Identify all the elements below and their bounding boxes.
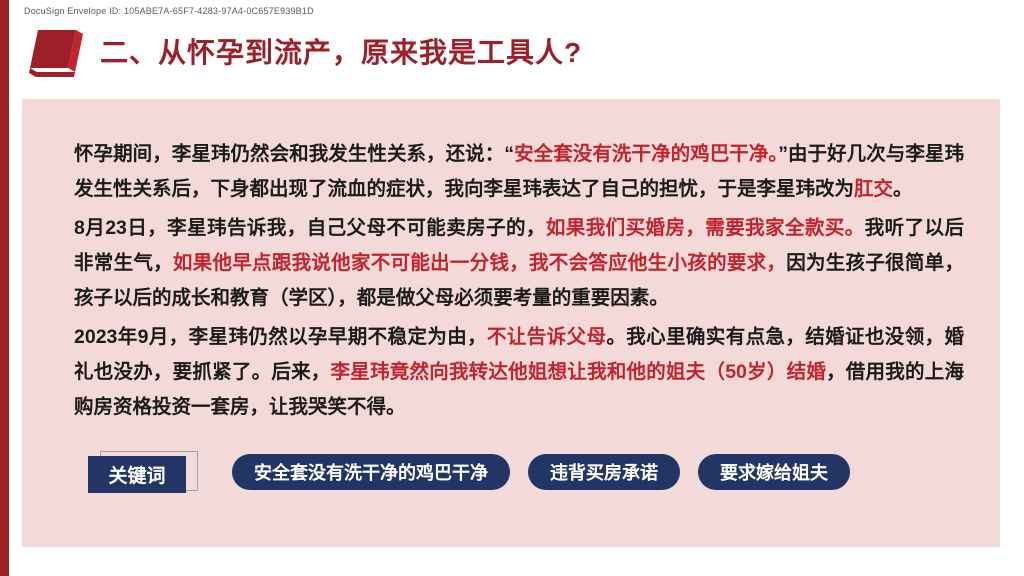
plain-text: 怀孕期间，李星玮仍然会和我发生性关系，还说：“ <box>74 143 514 165</box>
highlighted-text: 肛交 <box>854 178 893 200</box>
highlighted-text: 如果我们买婚房，需要我家全款买。 <box>546 217 865 239</box>
keyword-label: 关键词 <box>88 456 186 493</box>
highlighted-text: 如果他早点跟我说他家不可能出一分钱，我不会答应他生小孩的要求， <box>173 252 786 274</box>
book-icon <box>28 28 90 80</box>
plain-text: 8月23日，李星玮告诉我，自己父母不可能卖房子的， <box>74 217 546 239</box>
highlighted-text: 李星玮竟然向我转达他姐想让我和他的姐夫（50岁）结婚 <box>331 361 827 383</box>
paragraph: 8月23日，李星玮告诉我，自己父母不可能卖房子的，如果我们买婚房，需要我家全款买… <box>74 211 964 316</box>
plain-text: 。 <box>893 178 913 200</box>
docusign-envelope-id: DocuSign Envelope ID: 105ABE7A-65F7-4283… <box>24 6 314 16</box>
highlighted-text: 安全套没有洗干净的鸡巴干净。 <box>514 143 778 165</box>
keyword-tag-row: 关键词 安全套没有洗干净的鸡巴干净 违背买房承诺 要求嫁给姐夫 <box>88 451 850 493</box>
page-title: 二、从怀孕到流产，原来我是工具人? <box>100 31 582 71</box>
keyword-pill[interactable]: 违背买房承诺 <box>528 454 680 490</box>
left-accent-bar <box>0 0 9 576</box>
slide: DocuSign Envelope ID: 105ABE7A-65F7-4283… <box>0 0 1024 576</box>
content-panel: 怀孕期间，李星玮仍然会和我发生性关系，还说：“安全套没有洗干净的鸡巴干净。”由于… <box>22 99 1000 547</box>
keyword-label-group: 关键词 <box>88 451 200 493</box>
paragraph: 2023年9月，李星玮仍然以孕早期不稳定为由，不让告诉父母。我心里确实有点急，结… <box>74 320 964 425</box>
plain-text: 2023年9月，李星玮仍然以孕早期不稳定为由， <box>74 326 487 348</box>
body-text: 怀孕期间，李星玮仍然会和我发生性关系，还说：“安全套没有洗干净的鸡巴干净。”由于… <box>74 137 964 429</box>
highlighted-text: 不让告诉父母 <box>487 326 606 348</box>
keyword-pill[interactable]: 要求嫁给姐夫 <box>698 454 850 490</box>
paragraph: 怀孕期间，李星玮仍然会和我发生性关系，还说：“安全套没有洗干净的鸡巴干净。”由于… <box>74 137 964 207</box>
keyword-pill[interactable]: 安全套没有洗干净的鸡巴干净 <box>232 454 510 490</box>
slide-header: 二、从怀孕到流产，原来我是工具人? <box>0 26 1024 84</box>
